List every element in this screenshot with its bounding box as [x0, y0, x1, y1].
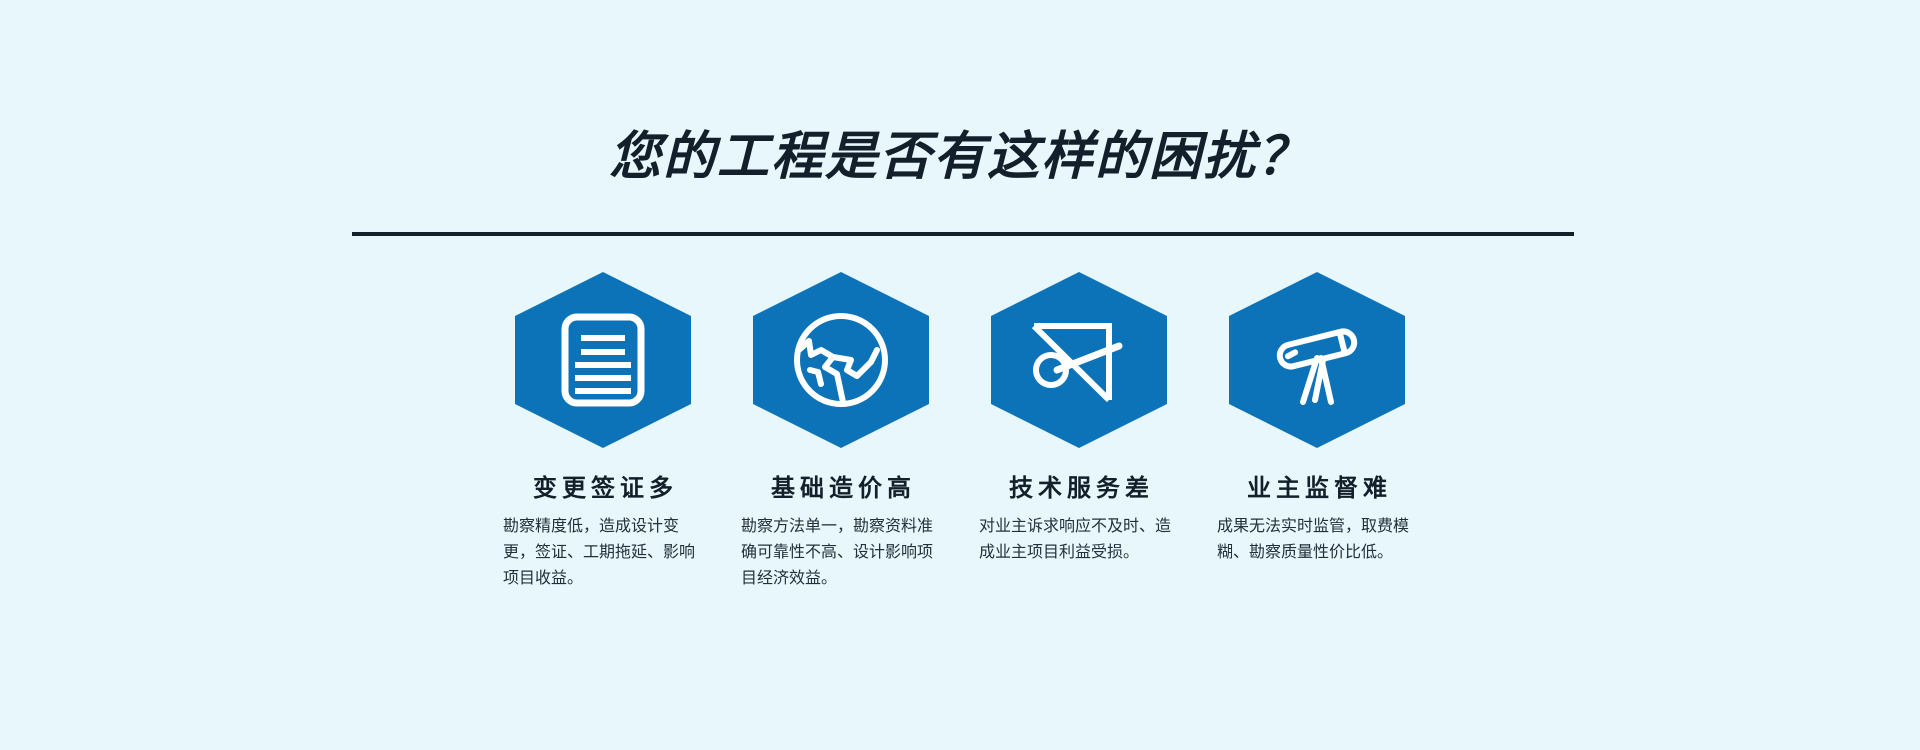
hex-badge — [753, 272, 929, 448]
hex-badge — [1229, 272, 1405, 448]
card-title: 变更签证多 — [528, 474, 678, 504]
pain-point-card: 技术服务差 对业主诉求响应不及时、造成业主项目利益受损。 — [966, 272, 1192, 566]
hex-badge — [515, 272, 691, 448]
telescope-icon — [1265, 308, 1369, 412]
card-body: 勘察方法单一，勘察资料准确可靠性不高、设计影响项目经济效益。 — [741, 514, 941, 592]
card-title: 技术服务差 — [1004, 474, 1154, 504]
card-body: 对业主诉求响应不及时、造成业主项目利益受损。 — [979, 514, 1179, 566]
pain-point-card: 基础造价高 勘察方法单一，勘察资料准确可靠性不高、设计影响项目经济效益。 — [728, 272, 954, 592]
page-root: 您的工程是否有这样的困扰？ 变更签证多 勘察精度低，造成设计变更，签证、工期拖延… — [0, 0, 1920, 750]
page-title: 您的工程是否有这样的困扰？ — [0, 128, 1920, 186]
survey-angle-icon — [1027, 308, 1131, 412]
card-title: 业主监督难 — [1242, 474, 1392, 504]
globe-icon — [791, 310, 891, 410]
card-body: 勘察精度低，造成设计变更，签证、工期拖延、影响项目收益。 — [503, 514, 703, 592]
card-title: 基础造价高 — [766, 474, 916, 504]
document-lines-icon — [560, 312, 646, 408]
pain-point-card: 变更签证多 勘察精度低，造成设计变更，签证、工期拖延、影响项目收益。 — [490, 272, 716, 592]
title-divider — [352, 232, 1574, 236]
hex-badge — [991, 272, 1167, 448]
pain-point-card-list: 变更签证多 勘察精度低，造成设计变更，签证、工期拖延、影响项目收益。 基础造价高… — [0, 272, 1920, 592]
pain-point-card: 业主监督难 成果无法实时监管，取费模糊、勘察质量性价比低。 — [1204, 272, 1430, 566]
card-body: 成果无法实时监管，取费模糊、勘察质量性价比低。 — [1217, 514, 1417, 566]
